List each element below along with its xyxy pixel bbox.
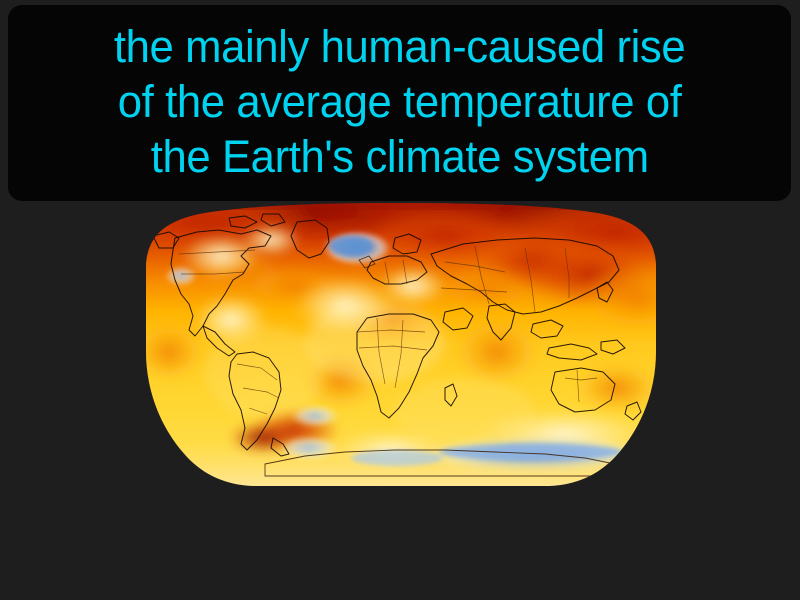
map-body	[145, 202, 657, 489]
world-map-graphic	[145, 202, 657, 489]
global-temperature-anomaly-map	[145, 202, 657, 489]
definition-line-2: of the average temperature of	[118, 74, 682, 129]
screenshot-canvas: the mainly human-caused rise of the aver…	[0, 0, 800, 600]
definition-line-3: the Earth's climate system	[151, 129, 649, 184]
definition-line-1: the mainly human-caused rise	[114, 19, 685, 74]
definition-card: the mainly human-caused rise of the aver…	[8, 5, 791, 201]
